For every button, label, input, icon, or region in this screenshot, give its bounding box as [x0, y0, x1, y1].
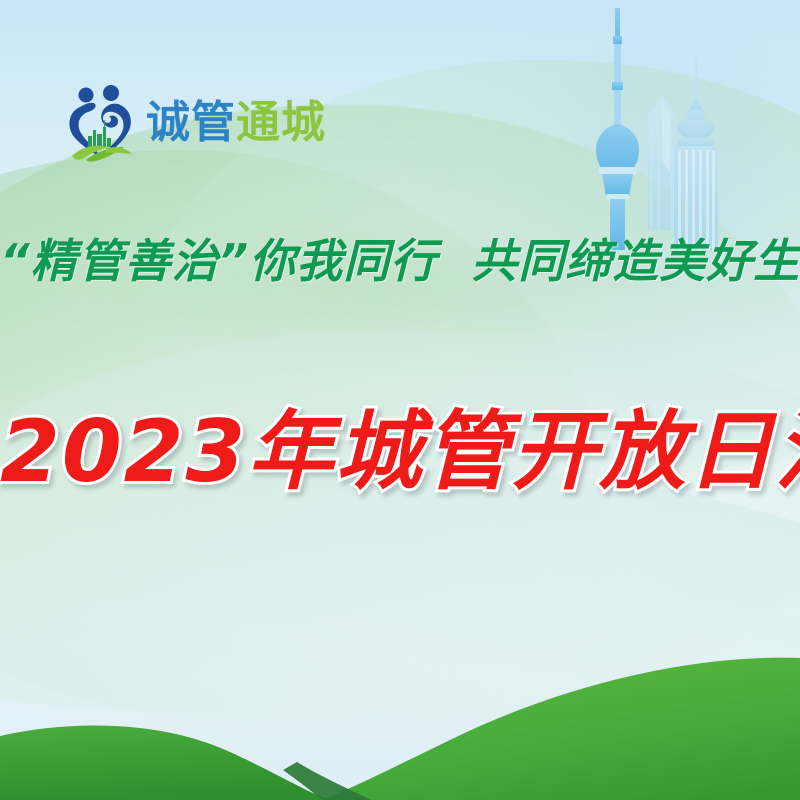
brand-logo-text-blue: 诚管	[146, 97, 236, 148]
tv-tower-shape	[596, 8, 639, 250]
brand-logo: 诚管通城	[66, 84, 326, 162]
subtitle-part-2: 共同缔造美好生活	[471, 234, 800, 288]
city-skyline-icon	[570, 0, 800, 250]
striped-skyscraper-shape	[674, 57, 718, 250]
poster-canvas: 诚管通城 “精管善治”你我同行共同缔造美好生活 2023年城管开放日活动	[0, 0, 800, 800]
logo-head-right	[103, 85, 119, 101]
hill-right-shape	[320, 658, 800, 800]
two-figures-heart-city-logo-icon	[66, 84, 138, 162]
brand-logo-text: 诚管通城	[146, 101, 326, 145]
logo-head-left	[79, 88, 94, 103]
subtitle-slogan: “精管善治”你我同行共同缔造美好生活	[0, 236, 800, 287]
subtitle-part-1: “精管善治”你我同行	[0, 234, 437, 288]
bottom-green-hills	[0, 570, 800, 800]
main-title: 2023年城管开放日活动	[0, 404, 800, 500]
brand-logo-text-green: 通城	[236, 97, 326, 148]
hill-left-shape	[0, 725, 330, 800]
pointed-tower-shape	[648, 96, 676, 230]
